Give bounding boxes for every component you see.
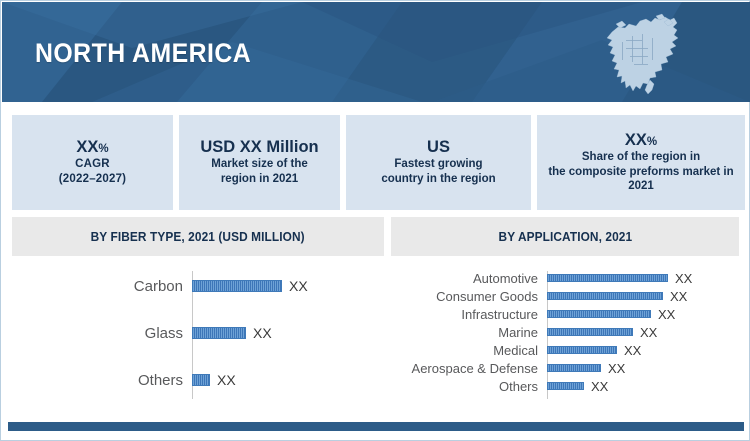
stat-card-market-size-line2: Market size of the <box>211 157 308 172</box>
chart-bar <box>547 364 601 372</box>
stat-card-fastest-country-line3: country in the region <box>381 172 495 187</box>
footer-bar <box>8 422 744 431</box>
stat-card-cagr-number: XX <box>76 138 98 156</box>
chart-bar <box>547 292 663 300</box>
chart-bar <box>192 327 246 339</box>
chart-value-label: XX <box>608 361 625 376</box>
chart-value-label: XX <box>624 343 641 358</box>
chart-category-label: Others <box>12 372 192 389</box>
infographic-root: NORTH AMERICA XX% <box>0 0 750 441</box>
chart-row: InfrastructureXX <box>391 307 739 321</box>
stat-card-share-value: XX% <box>625 131 657 150</box>
chart-category-label: Infrastructure <box>391 307 547 322</box>
stat-card-fastest-country-line2: Fastest growing <box>394 157 482 172</box>
header-banner: NORTH AMERICA <box>2 2 750 102</box>
stat-card-cagr-value: XX% <box>76 138 108 157</box>
stat-card-share-line2: Share of the region in <box>582 150 700 165</box>
stat-card-fastest-country-value: US <box>427 138 450 157</box>
chart-category-label: Carbon <box>12 278 192 295</box>
chart-row: OthersXX <box>12 373 384 387</box>
stat-card-share: XX% Share of the region in the composite… <box>537 115 745 210</box>
stat-card-share-line4: 2021 <box>628 179 654 194</box>
chart-category-label: Consumer Goods <box>391 289 547 304</box>
stat-card-share-number: XX <box>625 131 647 149</box>
chart-row: GlassXX <box>12 326 384 340</box>
section-header-fiber-type: BY FIBER TYPE, 2021 (USD MILLION) <box>12 217 384 256</box>
chart-application: AutomotiveXXConsumer GoodsXXInfrastructu… <box>391 263 739 403</box>
chart-value-label: XX <box>658 307 675 322</box>
chart-row: Aerospace & DefenseXX <box>391 361 739 375</box>
stat-card-fastest-country: US Fastest growing country in the region <box>346 115 531 210</box>
chart-category-label: Aerospace & Defense <box>391 361 547 376</box>
chart-bar <box>547 274 668 282</box>
stat-card-cagr-unit: % <box>98 143 108 155</box>
chart-category-label: Others <box>391 379 547 394</box>
stat-card-cagr-line2: CAGR <box>75 157 110 172</box>
chart-bar <box>547 310 651 318</box>
chart-bar <box>192 280 282 292</box>
chart-row: OthersXX <box>391 379 739 393</box>
chart-value-label: XX <box>675 271 692 286</box>
chart-bar <box>547 382 584 390</box>
chart-row: MarineXX <box>391 325 739 339</box>
chart-row: MedicalXX <box>391 343 739 357</box>
chart-row: CarbonXX <box>12 279 384 293</box>
chart-bar <box>547 328 633 336</box>
chart-value-label: XX <box>670 289 687 304</box>
stat-card-share-line3: the composite preforms market in <box>548 165 733 180</box>
chart-value-label: XX <box>253 325 272 341</box>
chart-category-label: Automotive <box>391 271 547 286</box>
section-header-fiber-type-label: BY FIBER TYPE, 2021 (USD MILLION) <box>91 230 305 244</box>
stat-card-share-unit: % <box>647 136 657 148</box>
north-america-map-icon <box>596 10 688 98</box>
stat-cards: XX% CAGR (2022–2027) USD XX Million Mark… <box>12 115 739 210</box>
stat-card-cagr-line3: (2022–2027) <box>59 172 126 187</box>
stat-card-market-size-value: USD XX Million <box>200 138 318 157</box>
chart-bar <box>192 374 210 386</box>
page-title: NORTH AMERICA <box>35 38 251 69</box>
chart-bar <box>547 346 617 354</box>
stat-card-cagr: XX% CAGR (2022–2027) <box>12 115 173 210</box>
chart-row: Consumer GoodsXX <box>391 289 739 303</box>
section-header-application: BY APPLICATION, 2021 <box>391 217 739 256</box>
chart-row: AutomotiveXX <box>391 271 739 285</box>
chart-category-label: Glass <box>12 325 192 342</box>
section-header-application-label: BY APPLICATION, 2021 <box>498 230 632 244</box>
chart-value-label: XX <box>640 325 657 340</box>
chart-value-label: XX <box>217 372 236 388</box>
chart-value-label: XX <box>289 278 308 294</box>
chart-category-label: Medical <box>391 343 547 358</box>
chart-category-label: Marine <box>391 325 547 340</box>
stat-card-market-size: USD XX Million Market size of the region… <box>179 115 340 210</box>
chart-value-label: XX <box>591 379 608 394</box>
chart-fiber-type: CarbonXXGlassXXOthersXX <box>12 263 384 403</box>
stat-card-market-size-line3: region in 2021 <box>221 172 298 187</box>
